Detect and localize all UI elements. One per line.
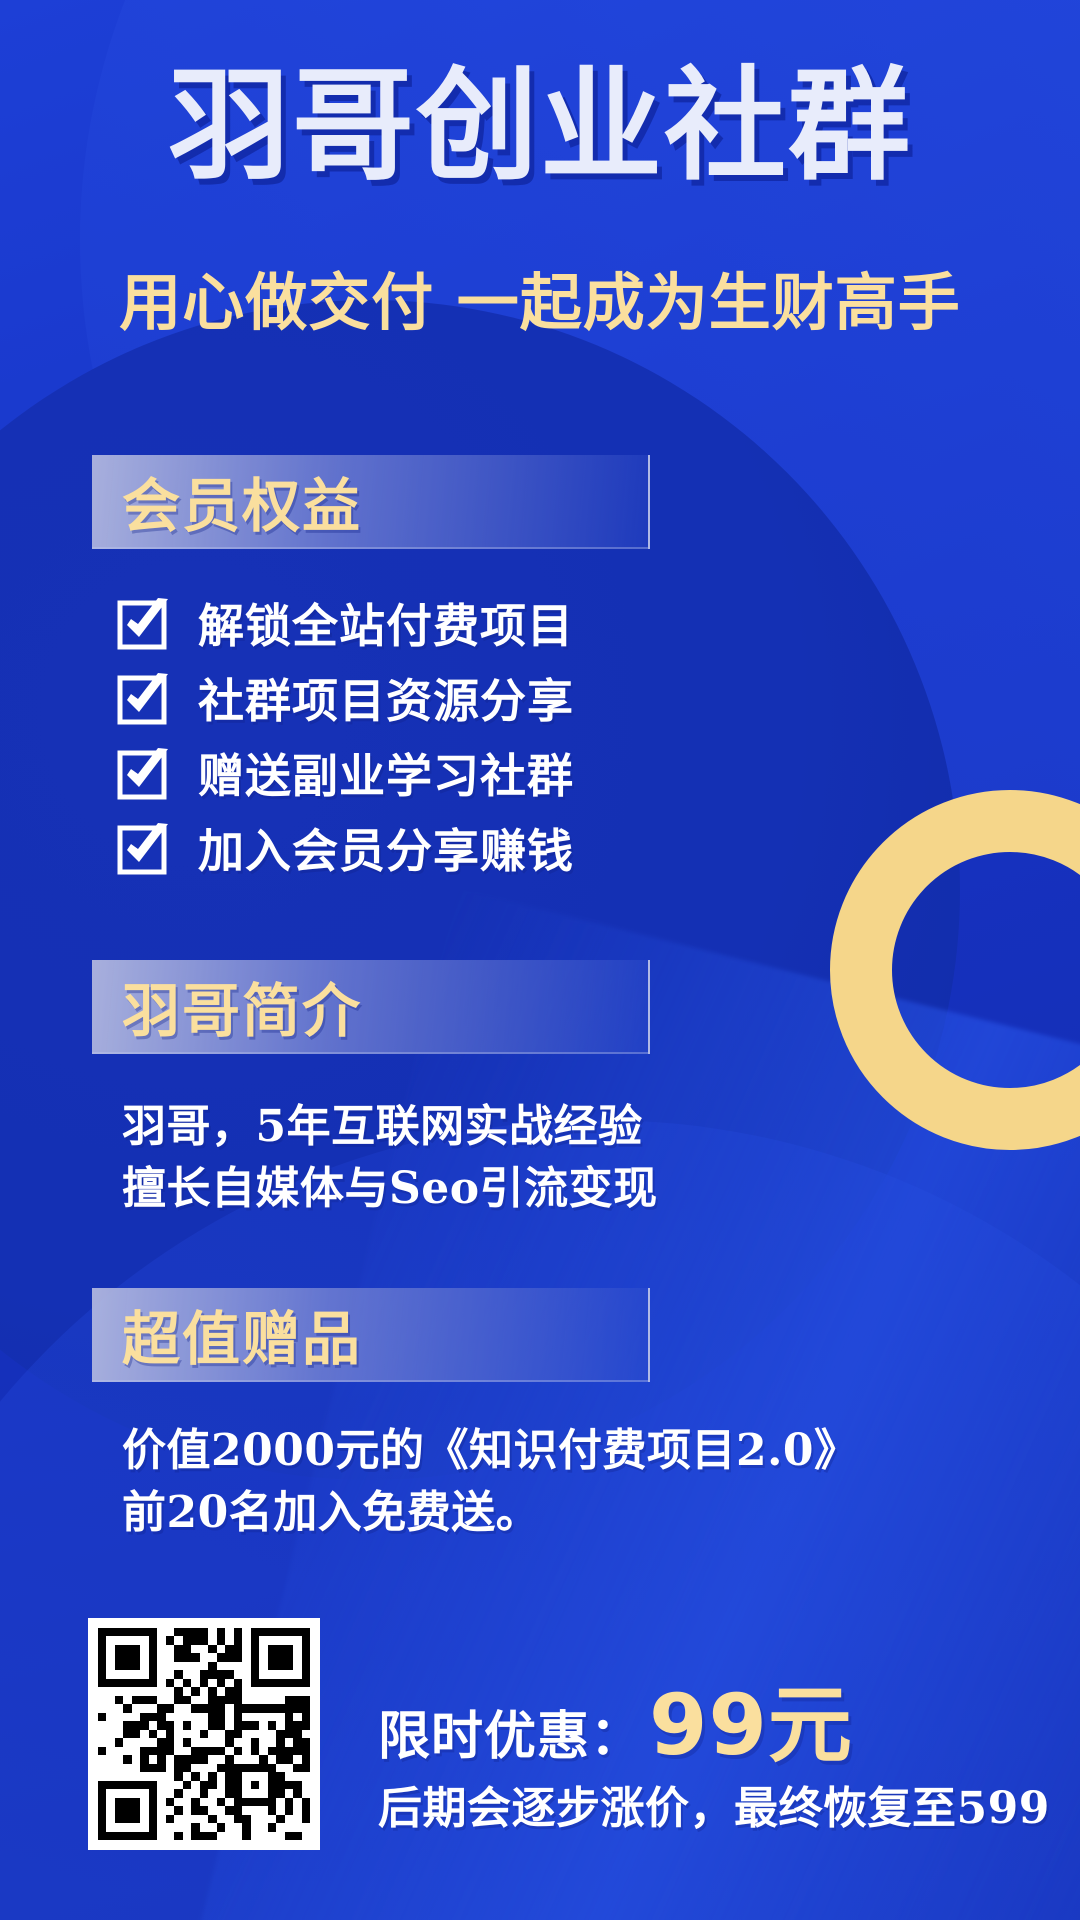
bonus-line: 价值2000元的《知识付费项目2.0》	[122, 1420, 859, 1482]
checkbox-checked-icon	[118, 822, 170, 874]
section-header-bonus: 超值赠品	[92, 1288, 650, 1382]
bonus-line: 前20名加入免费送。	[122, 1482, 859, 1544]
checkbox-checked-icon	[118, 672, 170, 724]
list-item-label: 社群项目资源分享	[198, 665, 574, 731]
section-header-profile: 羽哥简介	[92, 960, 650, 1054]
benefits-list: 解锁全站付费项目 社群项目资源分享 赠送副业学习	[118, 585, 818, 885]
qr-code-matrix	[98, 1628, 310, 1840]
list-item-label: 加入会员分享赚钱	[198, 815, 574, 881]
section-title-benefits: 会员权益	[92, 459, 362, 543]
qr-code-icon[interactable]	[88, 1618, 320, 1850]
section-title-bonus: 超值赠品	[92, 1292, 362, 1376]
list-item: 加入会员分享赚钱	[118, 810, 818, 885]
poster-title: 羽哥创业社群	[0, 62, 1080, 190]
price-value: 99元	[649, 1658, 853, 1779]
poster-subtitle: 用心做交付 一起成为生财高手	[0, 252, 1080, 342]
section-header-benefits: 会员权益	[92, 455, 650, 549]
promo-poster: 羽哥创业社群 用心做交付 一起成为生财高手 会员权益 解锁全站付费项目	[0, 0, 1080, 1920]
list-item: 解锁全站付费项目	[118, 585, 818, 660]
price-label: 限时优惠：	[378, 1694, 643, 1769]
list-item: 社群项目资源分享	[118, 660, 818, 735]
profile-line: 擅长自媒体与Seo引流变现	[122, 1158, 658, 1220]
profile-line: 羽哥，5年互联网实战经验	[122, 1096, 658, 1158]
price-row: 限时优惠： 99元	[378, 1658, 853, 1779]
list-item: 赠送副业学习社群	[118, 735, 818, 810]
checkbox-checked-icon	[118, 597, 170, 649]
list-item-label: 赠送副业学习社群	[198, 740, 574, 806]
profile-text: 羽哥，5年互联网实战经验 擅长自媒体与Seo引流变现	[122, 1096, 658, 1221]
list-item-label: 解锁全站付费项目	[198, 590, 574, 656]
price-note: 后期会逐步涨价，最终恢复至599	[378, 1772, 1050, 1836]
checkbox-checked-icon	[118, 747, 170, 799]
bonus-text: 价值2000元的《知识付费项目2.0》 前20名加入免费送。	[122, 1420, 859, 1545]
section-title-profile: 羽哥简介	[92, 964, 362, 1048]
